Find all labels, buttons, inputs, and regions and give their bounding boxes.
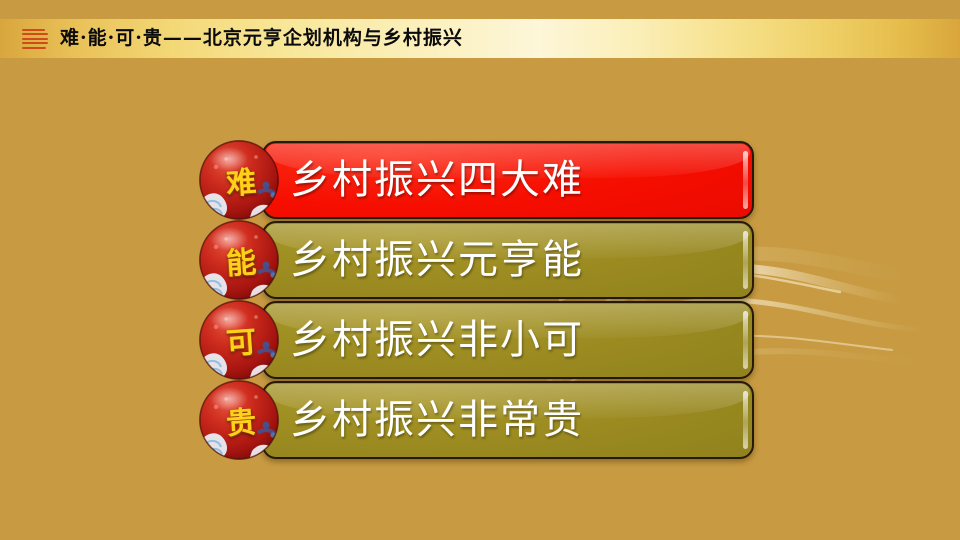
badge-ball-icon: 贵: [196, 377, 282, 463]
badge-ball-icon: 可: [196, 297, 282, 383]
row-label: 乡村振兴四大难: [290, 160, 584, 200]
badge-ball-icon: 能: [196, 217, 282, 303]
list-item[interactable]: 乡村振兴元亨能: [196, 217, 754, 303]
slide-canvas: 难·能·可·贵——北京元亨企划机构与乡村振兴 乡村振兴四大难: [0, 0, 960, 540]
row-bar[interactable]: 乡村振兴非常贵: [262, 381, 754, 459]
row-label: 乡村振兴非常贵: [290, 400, 584, 440]
list-item[interactable]: 乡村振兴非常贵: [196, 377, 754, 463]
content-rows: 乡村振兴四大难: [0, 0, 960, 540]
row-bar[interactable]: 乡村振兴四大难: [262, 141, 754, 219]
row-bar[interactable]: 乡村振兴非小可: [262, 301, 754, 379]
badge-ball-icon: 难: [196, 137, 282, 223]
row-label: 乡村振兴非小可: [290, 320, 584, 360]
list-item[interactable]: 乡村振兴四大难: [196, 137, 754, 223]
list-item[interactable]: 乡村振兴非小可: [196, 297, 754, 383]
row-bar[interactable]: 乡村振兴元亨能: [262, 221, 754, 299]
row-label: 乡村振兴元亨能: [290, 240, 584, 280]
